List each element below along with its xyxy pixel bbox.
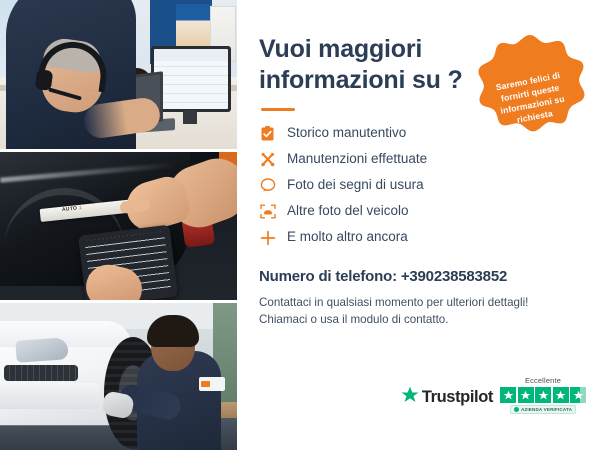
speech-bubble-icon bbox=[259, 177, 276, 194]
page-title: Vuoi maggiori informazioni su ? bbox=[259, 34, 464, 95]
phone-number[interactable]: Numero di telefono: +390238583852 bbox=[259, 268, 578, 285]
verified-check-icon bbox=[514, 407, 519, 412]
verified-business-label: AZIENDA VERIFICATA bbox=[521, 407, 572, 412]
trustpilot-logo: Trustpilot bbox=[401, 386, 493, 414]
clipboard-check-icon bbox=[259, 125, 276, 142]
contact-line-2: Chiamaci o usa il modulo di contatto. bbox=[259, 311, 578, 328]
tools-cross-icon bbox=[259, 151, 276, 168]
feature-item-molto-altro: E molto altro ancora bbox=[259, 229, 578, 246]
star-filled-icon bbox=[518, 387, 534, 403]
verified-business-badge: AZIENDA VERIFICATA bbox=[510, 405, 576, 414]
contact-line-1: Contattaci in qualsiasi momento per ulte… bbox=[259, 294, 578, 311]
bumper-inspection-photo: AUTO 1 bbox=[0, 152, 237, 300]
contact-instructions: Contattaci in qualsiasi momento per ulte… bbox=[259, 294, 578, 329]
trustpilot-wordmark: Trustpilot bbox=[422, 388, 493, 407]
title-divider bbox=[261, 108, 295, 111]
photo-frame-icon bbox=[259, 203, 276, 220]
trustpilot-rating-label: Eccellente bbox=[525, 376, 561, 385]
plus-icon bbox=[259, 229, 276, 246]
feature-label: Storico manutentivo bbox=[287, 126, 406, 141]
star-filled-icon bbox=[535, 387, 551, 403]
contact-info-banner: AUTO 1 bbox=[0, 0, 600, 450]
callout-badge-text: Saremo felici di fornirti queste informa… bbox=[486, 69, 578, 132]
feature-item-manutenzioni: Manutenzioni effettuate bbox=[259, 151, 578, 168]
callout-badge: Saremo felici di fornirti queste informa… bbox=[471, 33, 589, 151]
call-center-photo bbox=[0, 0, 237, 149]
feature-label: Foto dei segni di usura bbox=[287, 178, 424, 193]
feature-label: Altre foto del veicolo bbox=[287, 204, 409, 219]
feature-label: E molto altro ancora bbox=[287, 230, 408, 245]
star-filled-icon bbox=[500, 387, 516, 403]
feature-item-altre-foto: Altre foto del veicolo bbox=[259, 203, 578, 220]
trustpilot-widget[interactable]: Trustpilot Eccellente bbox=[401, 376, 586, 414]
trustpilot-star-icon bbox=[401, 386, 419, 409]
trustpilot-stars bbox=[500, 387, 586, 403]
star-filled-icon bbox=[553, 387, 569, 403]
wheel-service-photo bbox=[0, 303, 237, 450]
content-panel: Vuoi maggiori informazioni su ? Storico … bbox=[237, 0, 600, 450]
star-half-icon bbox=[570, 387, 586, 403]
photo-column: AUTO 1 bbox=[0, 0, 237, 450]
feature-label: Manutenzioni effettuate bbox=[287, 152, 427, 167]
trustpilot-rating: Eccellente bbox=[500, 376, 586, 414]
feature-item-foto-usura: Foto dei segni di usura bbox=[259, 177, 578, 194]
